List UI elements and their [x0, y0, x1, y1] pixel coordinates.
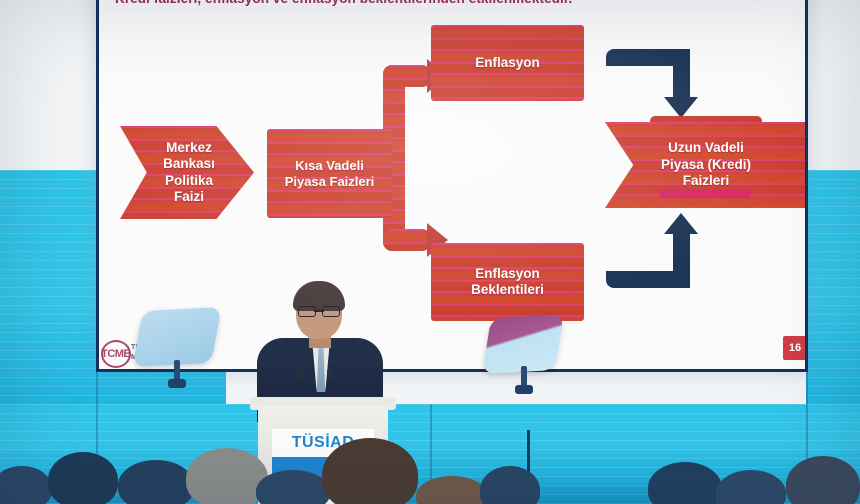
microphone-head-left [296, 370, 303, 382]
diagram-node-inflation-expectations: Enflasyon Beklentileri [431, 243, 584, 321]
slide-title: Kredi faizleri, enflasyon ve enflasyon b… [115, 0, 791, 6]
monitor-left-base [168, 379, 186, 388]
audience-head [118, 460, 194, 504]
node-policy-line4: Faizi [174, 189, 204, 204]
red-arrow-lower-branch [383, 229, 431, 251]
audience-head [256, 470, 330, 504]
diagram-node-short-term-rates: Kısa Vadeli Piyasa Faizleri [267, 129, 392, 218]
node-long-line1: Uzun Vadeli [668, 140, 744, 155]
audience-head [48, 452, 118, 504]
navy-arrow-bottom-vertical [673, 233, 690, 288]
node-long-line2: Piyasa (Kredi) [661, 157, 751, 172]
node-long-line3: Faizleri [683, 173, 730, 188]
confidence-monitor-left [133, 307, 222, 367]
node-policy-line2: Bankası [163, 156, 215, 171]
monitor-right-base [515, 385, 533, 394]
slide-page-number: 16 [783, 336, 807, 360]
navy-arrowhead-up-icon [664, 213, 698, 234]
screenshot-root: Kredi faizleri, enflasyon ve enflasyon b… [0, 0, 860, 504]
node-expect-line2: Beklentileri [471, 282, 544, 297]
glasses-lens-right [322, 306, 340, 317]
node-expect-line1: Enflasyon [475, 266, 540, 281]
glasses-bridge [314, 310, 324, 312]
navy-arrow-top-vertical [673, 49, 690, 101]
confidence-monitor-right [482, 314, 564, 374]
cbrt-monogram: TCMB [101, 340, 131, 368]
node-short-line2: Piyasa Faizleri [285, 174, 375, 189]
node-short-line1: Kısa Vadeli [295, 158, 364, 173]
navy-arrowhead-down-icon [664, 97, 698, 118]
speaker-glasses-icon [298, 306, 340, 315]
node-policy-line3: Politika [165, 173, 213, 188]
node-inflation-label: Enflasyon [475, 55, 540, 71]
audience-head [322, 438, 418, 504]
diagram-node-inflation: Enflasyon [431, 25, 584, 101]
node-policy-line1: Merkez [166, 140, 212, 155]
diagram-node-policy-rate: Merkez Bankası Politika Faizi [120, 126, 254, 219]
banner-fold-accent [659, 189, 751, 198]
microphone-head-right [327, 368, 334, 380]
red-arrow-upper-branch [383, 65, 431, 87]
